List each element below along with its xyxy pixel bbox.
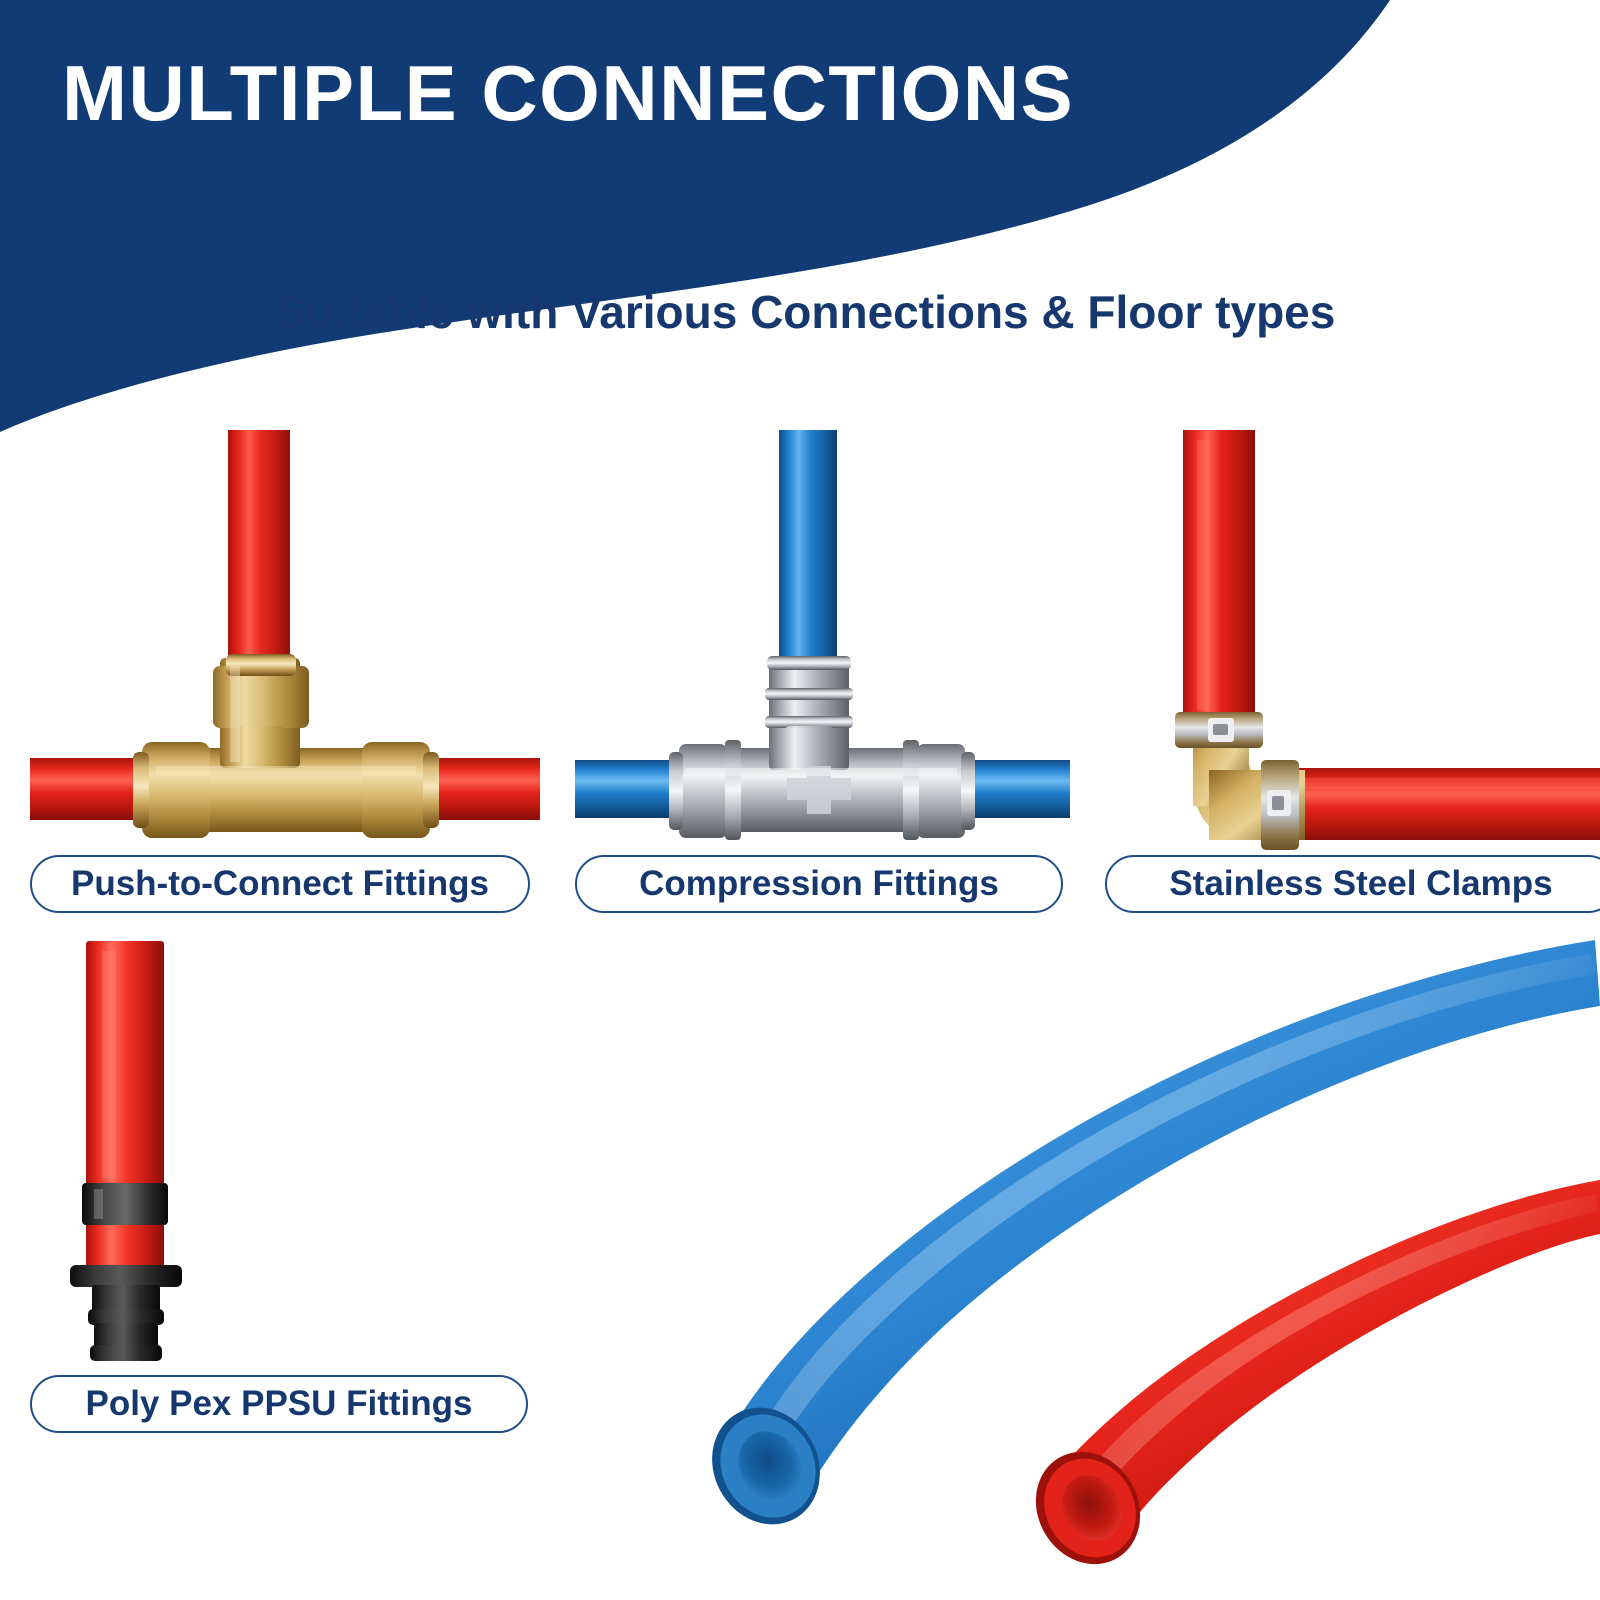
label-push-to-connect-fittings[interactable]: Push-to-Connect Fittings	[30, 855, 530, 913]
hero-pex-tubes-image	[690, 930, 1600, 1600]
product-card-push-to-connect: Push-to-Connect Fittings	[30, 430, 540, 920]
page-subtitle: Suitable with Various Connections & Floo…	[140, 283, 1470, 341]
infographic-canvas: MULTIPLE CONNECTIONS Suitable with Vario…	[0, 0, 1600, 1600]
label-poly-pex-ppsu-fittings[interactable]: Poly Pex PPSU Fittings	[30, 1375, 528, 1433]
pex-elbow-with-clamps-image	[1105, 430, 1600, 850]
page-title: MULTIPLE CONNECTIONS	[62, 46, 1202, 140]
label-compression-fittings[interactable]: Compression Fittings	[575, 855, 1063, 913]
ppsu-fitting-image	[30, 935, 540, 1365]
product-card-stainless-clamps: Stainless Steel Clamps	[1105, 430, 1600, 920]
red-pex-tube	[1016, 1180, 1600, 1583]
product-card-compression: Compression Fittings	[575, 430, 1070, 920]
chrome-tee-fitting-image	[575, 430, 1070, 850]
brass-tee-fitting-image	[30, 430, 540, 850]
label-stainless-steel-clamps[interactable]: Stainless Steel Clamps	[1105, 855, 1600, 913]
product-card-poly-pex-ppsu: Poly Pex PPSU Fittings	[30, 935, 540, 1435]
